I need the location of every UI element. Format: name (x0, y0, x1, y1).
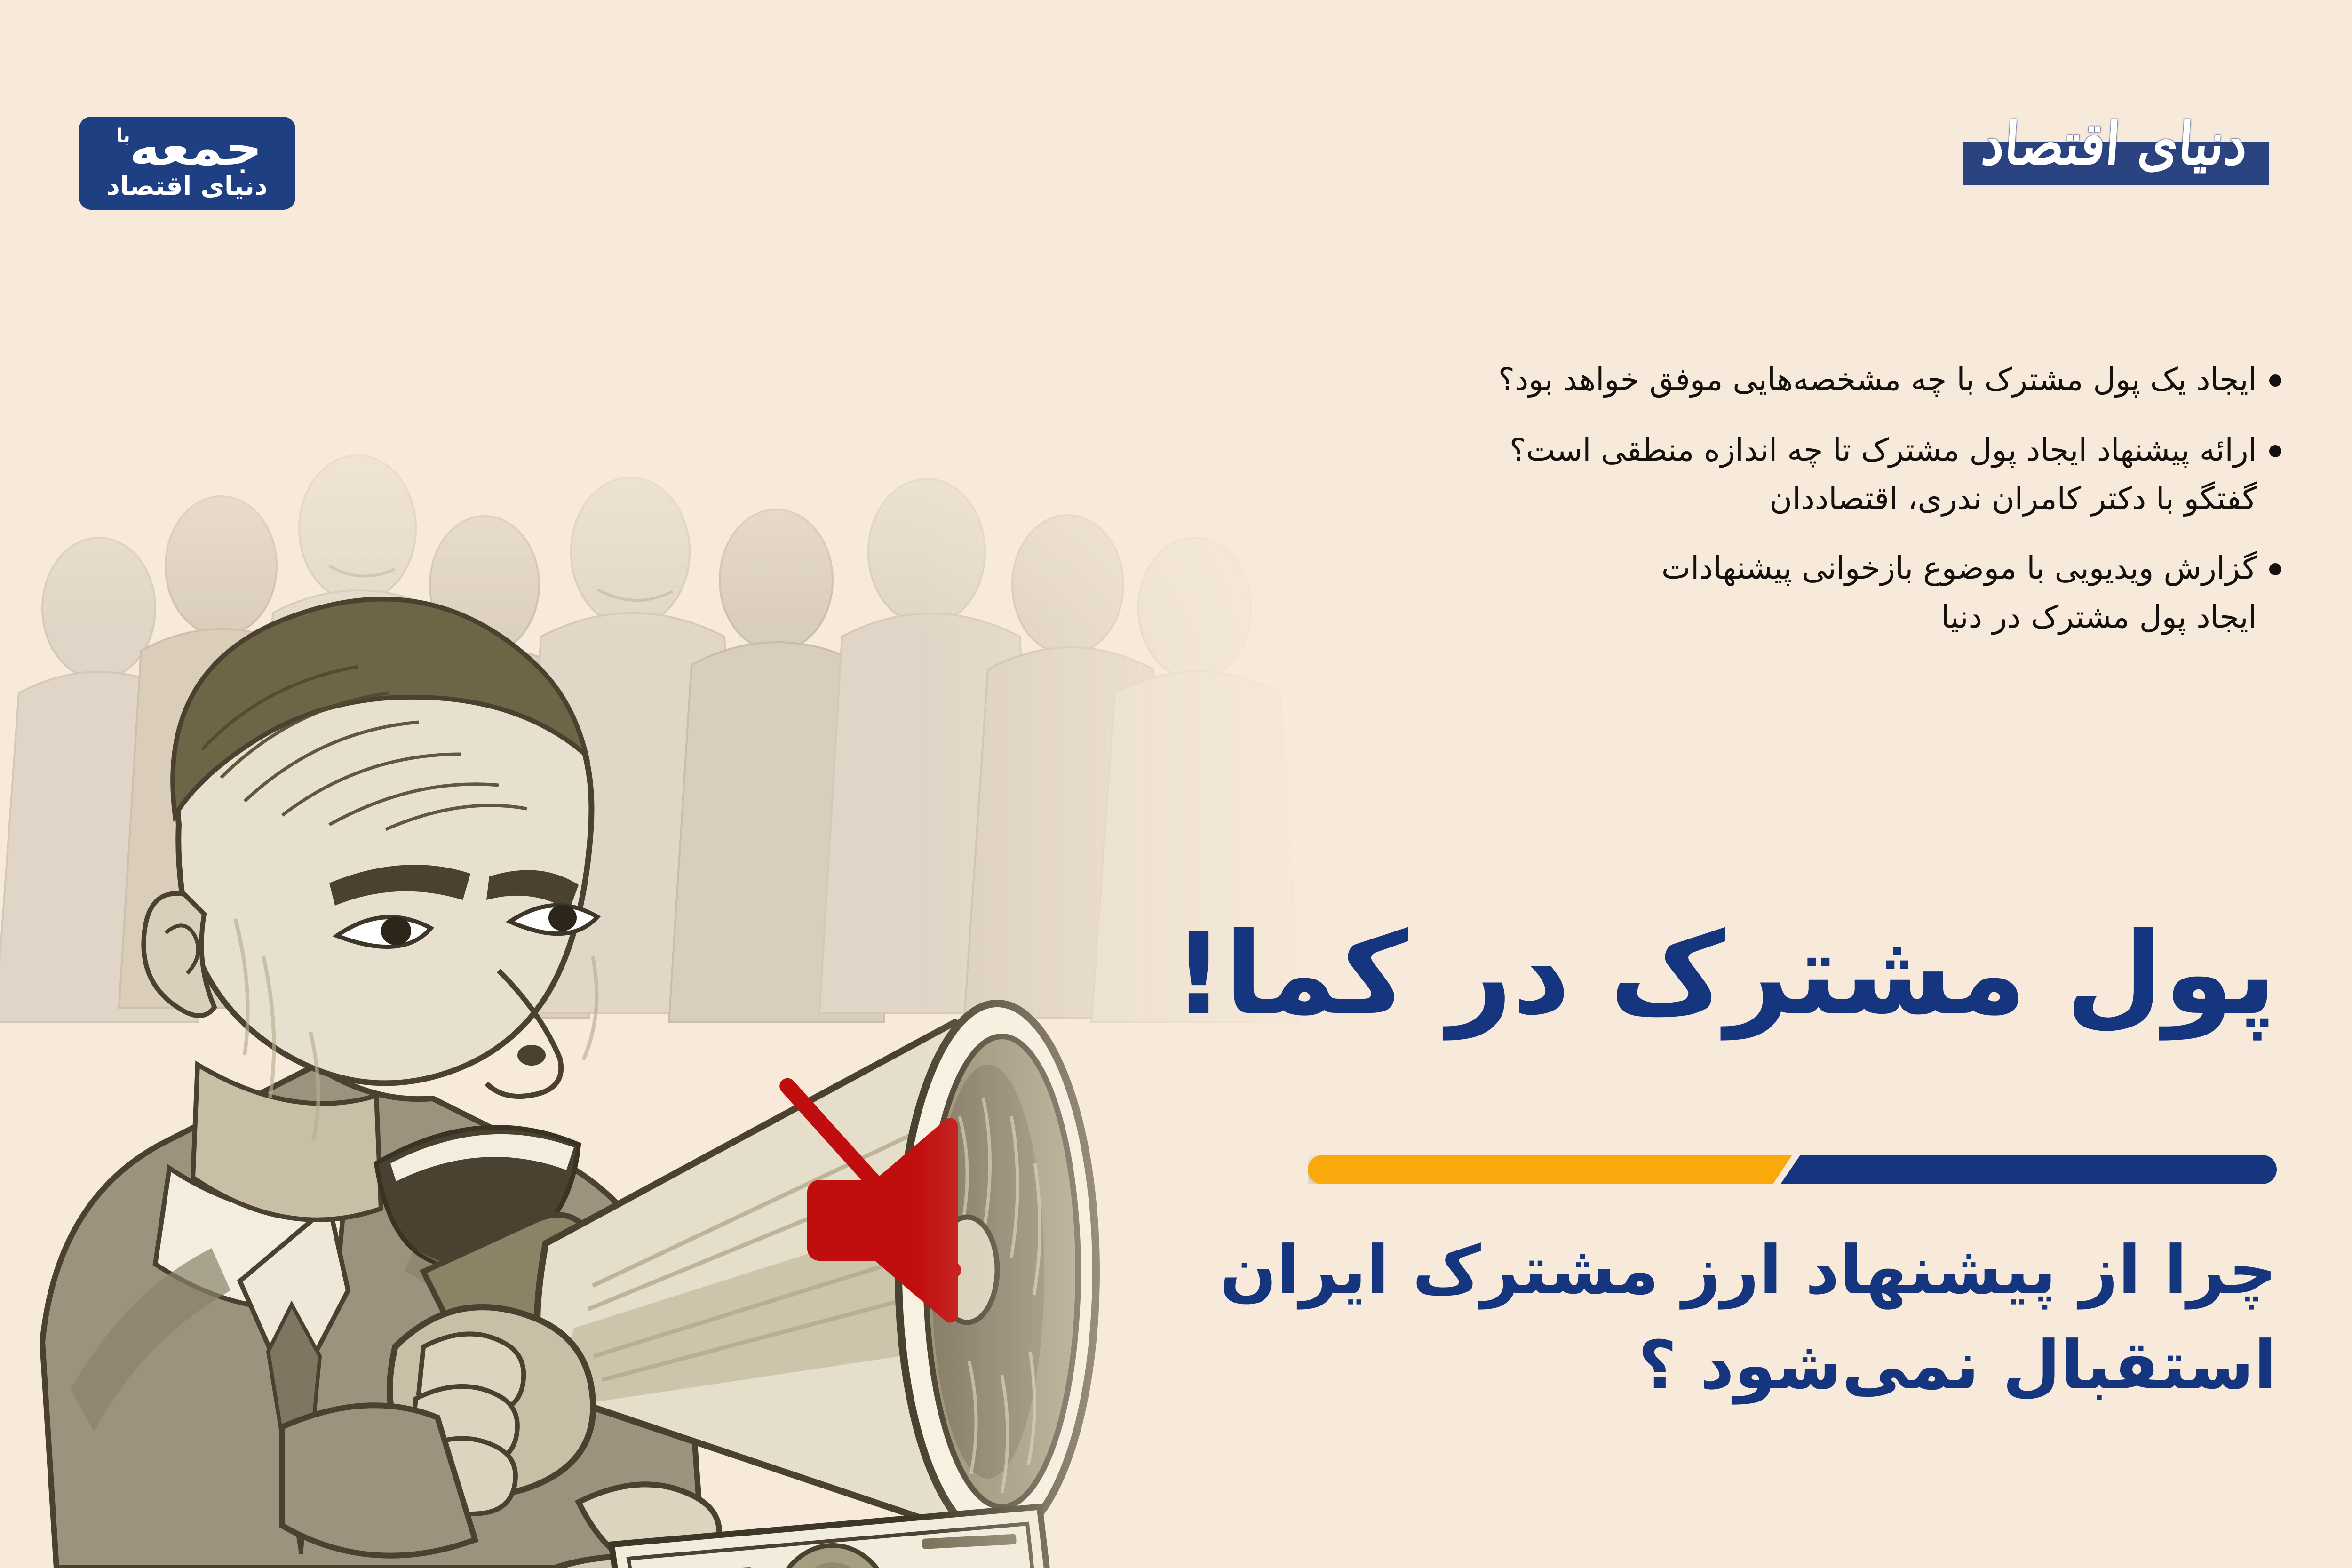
illustration (0, 364, 1312, 1568)
masthead-logo: دنیای اقتصاد (1933, 99, 2296, 188)
poster-canvas: جمعه با دنیای اقتصاد دنیای اقتصاد ایجاد … (0, 0, 2352, 1568)
bullet-list: ایجاد یک پول مشترک با چه مشخصه‌هایی موفق… (1247, 358, 2281, 665)
friday-badge: جمعه با دنیای اقتصاد (79, 117, 295, 210)
bullet-dot-icon (2269, 445, 2281, 457)
bullet-dot-icon (2269, 563, 2281, 575)
subtitle-line-2: استقبال نمی‌شود ؟ (1242, 1318, 2277, 1413)
bullet-subtext: گفتگو با دکتر کامران ندری، اقتصاددان (1247, 477, 2281, 521)
badge-main-word: جمعه (129, 125, 262, 171)
badge-small-word: با (116, 127, 130, 145)
divider-segment-blue (1780, 1155, 2277, 1184)
subtitle: چرا از پیشنهاد ارز مشترک ایران استقبال ن… (1242, 1223, 2277, 1413)
bullet-text: ارائه پیشنهاد ایجاد پول مشترک تا چه اندا… (1510, 428, 2257, 472)
spacer (1247, 406, 2281, 428)
divider-segment-orange (1308, 1155, 1792, 1184)
subtitle-line-1: چرا از پیشنهاد ارز مشترک ایران (1242, 1223, 2277, 1318)
masthead-text: دنیای اقتصاد (1930, 94, 2299, 194)
page-title: پول مشترک در کما! (1242, 917, 2277, 1030)
list-item: گزارش ویدیویی با موضوع بازخوانی پیشنهادا… (1247, 546, 2281, 590)
badge-top-row: جمعه با (86, 125, 289, 171)
bullet-text: ایجاد یک پول مشترک با چه مشخصه‌هایی موفق… (1498, 358, 2257, 402)
divider (1308, 1155, 2277, 1184)
list-item: ارائه پیشنهاد ایجاد پول مشترک تا چه اندا… (1247, 428, 2281, 472)
bullet-subtext: ایجاد پول مشترک در دنیا (1247, 595, 2281, 639)
bullet-dot-icon (2269, 374, 2281, 387)
list-item: ایجاد یک پول مشترک با چه مشخصه‌هایی موفق… (1247, 358, 2281, 402)
badge-sub-word: دنیای اقتصاد (107, 174, 268, 199)
bullet-text: گزارش ویدیویی با موضوع بازخوانی پیشنهادا… (1661, 546, 2257, 590)
